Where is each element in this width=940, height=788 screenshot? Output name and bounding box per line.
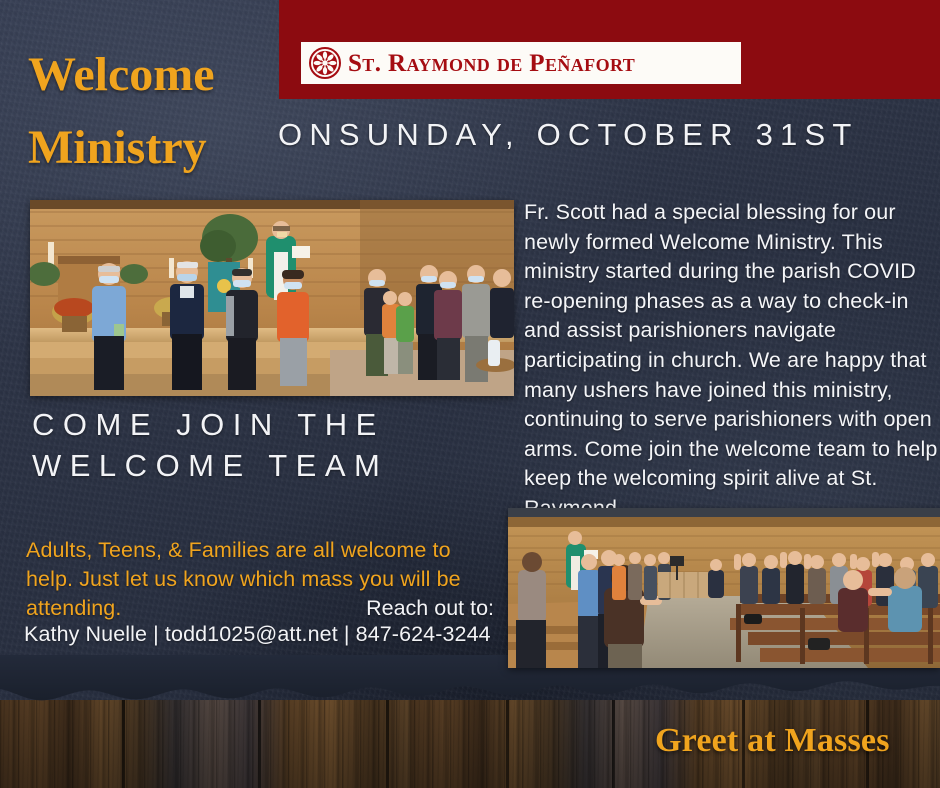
footer-tagline: Greet at Masses — [655, 722, 890, 760]
come-join-headline: COME JOIN THE WELCOME TEAM — [32, 404, 502, 486]
headline-line-2: WELCOME TEAM — [32, 445, 502, 486]
title-line-ministry: Ministry — [28, 111, 278, 184]
headline-line-1: COME JOIN THE — [32, 404, 502, 445]
parish-logo-plate: St. Raymond de Peñafort — [301, 42, 741, 84]
title-line-welcome: Welcome — [28, 38, 278, 111]
contact-details: Kathy Nuelle | todd1025@att.net | 847-62… — [24, 620, 494, 649]
photo-sanctuary-art — [30, 200, 514, 396]
photo-sanctuary-blessing — [30, 200, 514, 396]
reach-out-label: Reach out to: — [26, 594, 494, 623]
event-date: ONSUNDAY, OCTOBER 31ST — [278, 117, 938, 153]
flyer-title: Welcome Ministry — [28, 38, 278, 184]
photo-congregation-blessing — [508, 508, 940, 668]
flyer-canvas: St. Raymond de Peñafort Welcome Ministry… — [0, 0, 940, 788]
rosette-wheel-icon — [309, 47, 341, 79]
photo-congregation-art — [508, 508, 940, 668]
parish-logo-text: St. Raymond de Peñafort — [348, 51, 635, 76]
body-paragraph: Fr. Scott had a special blessing for our… — [524, 198, 940, 524]
